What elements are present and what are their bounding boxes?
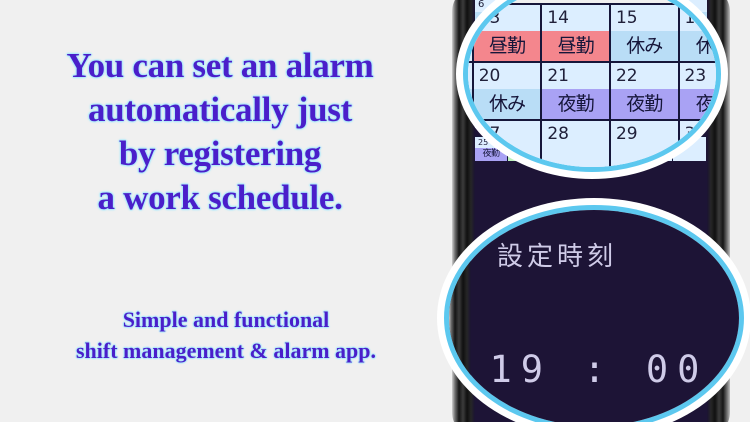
magnified-day-cell[interactable]: 16休み xyxy=(680,3,721,61)
magnified-day-cell[interactable]: 27 xyxy=(474,119,543,172)
magnified-shift-label: 休み xyxy=(611,31,678,61)
magnifier-bubble-alarm: 設定時刻 19 : 00 xyxy=(444,205,744,422)
magnified-day-number: 27 xyxy=(474,119,541,147)
magnified-day-number: 16 xyxy=(680,3,721,31)
magnified-day-cell[interactable]: 28 xyxy=(542,119,611,172)
magnified-week-row: 13昼勤14昼勤15休み16休み xyxy=(463,3,721,61)
page-title: You can set an alarm automatically just … xyxy=(0,44,440,220)
magnified-shift-label: 昼勤 xyxy=(542,31,609,61)
magnified-day-number: 29 xyxy=(611,119,678,147)
magnified-shift-label: 休み xyxy=(474,89,541,119)
magnified-day-cell[interactable]: 30 xyxy=(680,119,721,172)
magnified-day-cell[interactable]: 23夜勤 xyxy=(680,61,721,119)
magnified-day-number: 28 xyxy=(542,119,609,147)
magnified-calendar: 13昼勤14昼勤15休み16休みみ20休み21夜勤22夜勤23夜勤み272829… xyxy=(463,3,721,172)
magnified-day-cell[interactable]: 15休み xyxy=(611,3,680,61)
magnified-alarm-time: 19 : 00 xyxy=(449,348,744,391)
magnified-day-number xyxy=(463,61,472,89)
magnified-day-cell[interactable]: 21夜勤 xyxy=(542,61,611,119)
headline-line-2: automatically just xyxy=(0,88,440,132)
magnified-day-cell[interactable]: 20休み xyxy=(474,61,543,119)
magnified-day-number: 15 xyxy=(611,3,678,31)
headline-line-3: by registering xyxy=(0,132,440,176)
magnified-day-cell[interactable]: 29 xyxy=(611,119,680,172)
magnified-week-row: み27282930 xyxy=(463,119,721,172)
magnified-day-number: 30 xyxy=(680,119,721,147)
magnified-shift-label: 昼勤 xyxy=(474,31,541,61)
magnified-day-number: 13 xyxy=(474,3,541,31)
magnified-alarm: 設定時刻 19 : 00 xyxy=(449,210,744,422)
magnified-day-number: 21 xyxy=(542,61,609,89)
magnified-day-number: 23 xyxy=(680,61,721,89)
magnifier-bubble-calendar: 13昼勤14昼勤15休み16休みみ20休み21夜勤22夜勤23夜勤み272829… xyxy=(463,0,721,172)
marketing-copy: You can set an alarm automatically just … xyxy=(0,0,452,422)
magnified-alarm-title: 設定時刻 xyxy=(497,236,617,273)
magnified-day-number: 22 xyxy=(611,61,678,89)
promo-screenshot: You can set an alarm automatically just … xyxy=(0,0,750,422)
magnified-day-number: 20 xyxy=(474,61,541,89)
magnified-shift-label: 休み xyxy=(680,31,721,61)
magnified-day-cell[interactable]: 22夜勤 xyxy=(611,61,680,119)
magnified-day-cell[interactable]: 13昼勤 xyxy=(474,3,543,61)
magnified-week-row: み20休み21夜勤22夜勤23夜勤 xyxy=(463,61,721,119)
subtitle-line-2: shift management & alarm app. xyxy=(0,335,452,366)
magnified-day-cell[interactable]: 14昼勤 xyxy=(542,3,611,61)
magnified-shift-label: 夜勤 xyxy=(611,89,678,119)
headline-line-4: a work schedule. xyxy=(0,176,440,220)
magnified-shift-label: 夜勤 xyxy=(680,89,721,119)
subtitle-line-1: Simple and functional xyxy=(0,304,452,335)
magnified-shift-label: 夜勤 xyxy=(542,89,609,119)
magnified-day-number: 14 xyxy=(542,3,609,31)
headline-line-1: You can set an alarm xyxy=(0,44,440,88)
subtitle: Simple and functional shift management &… xyxy=(0,304,452,366)
